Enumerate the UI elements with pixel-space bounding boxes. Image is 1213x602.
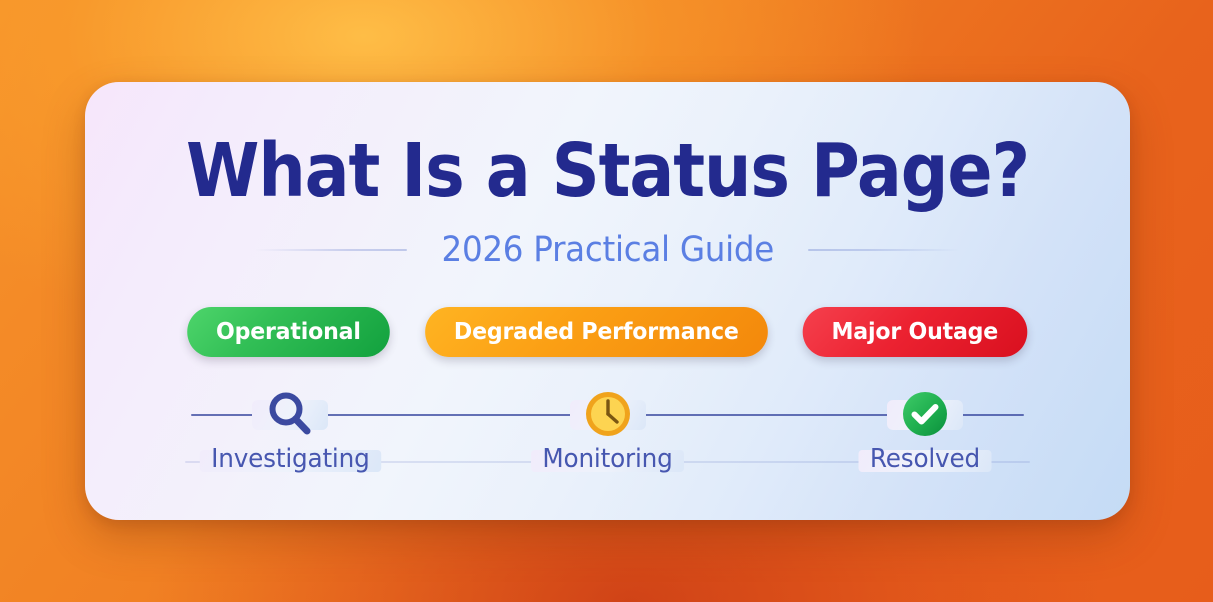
status-pill-major-outage-label: Major Outage [832,319,999,345]
status-pill-operational-label: Operational [216,319,361,345]
status-pill-row: Operational Degraded Performance Major O… [85,307,1130,357]
poster-canvas: What Is a Status Page? 2026 Practical Gu… [0,0,1213,602]
status-page-card: What Is a Status Page? 2026 Practical Gu… [85,82,1130,520]
page-subtitle: 2026 Practical Guide [441,230,774,270]
status-pill-degraded-performance-label: Degraded Performance [454,319,739,345]
timeline-step-resolved-label: Resolved [859,444,992,474]
status-pill-operational[interactable]: Operational [187,307,389,357]
timeline-steps: Investigating Monitoring [185,387,1030,497]
timeline-step-investigating[interactable]: Investigating [185,387,395,474]
clock-icon [570,386,646,442]
subtitle-row: 2026 Practical Guide [85,230,1130,270]
page-title: What Is a Status Page? [137,134,1078,208]
timeline-step-monitoring-label: Monitoring [531,444,684,474]
check-circle-icon [887,386,963,442]
magnifier-icon [252,386,328,442]
subtitle-rule-left [255,249,407,251]
timeline-step-monitoring[interactable]: Monitoring [503,387,713,474]
status-pill-major-outage[interactable]: Major Outage [803,307,1027,357]
subtitle-rule-right [808,249,960,251]
incident-timeline: Investigating Monitoring [185,387,1030,497]
timeline-step-investigating-label: Investigating [199,444,380,474]
status-pill-degraded-performance[interactable]: Degraded Performance [425,307,767,357]
timeline-step-resolved[interactable]: Resolved [820,387,1030,474]
